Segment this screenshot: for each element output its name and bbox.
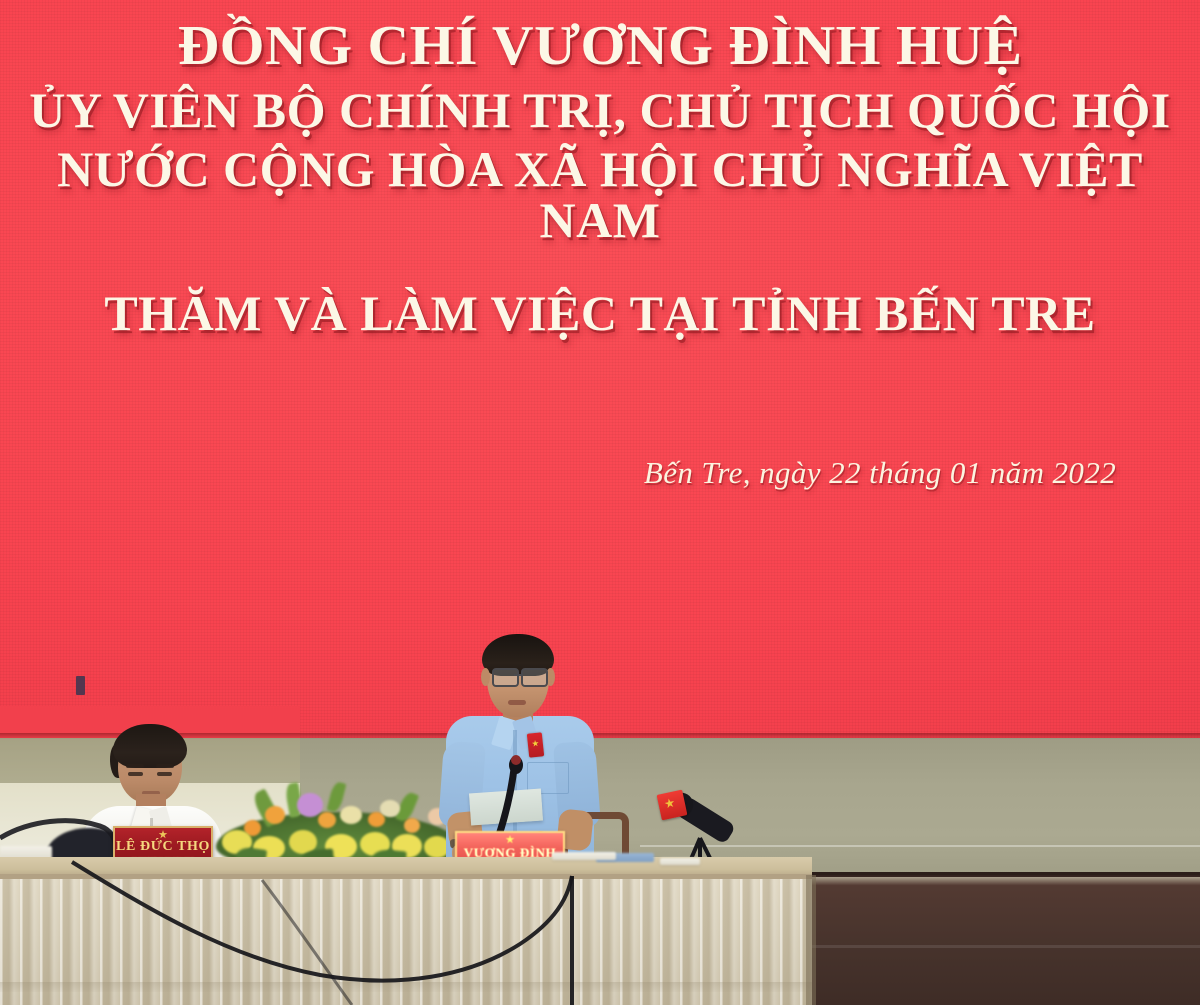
seated-official-brow-left [126,764,144,768]
speaker-ear-left [481,668,490,686]
speaker-notes-paper [469,789,543,826]
nameplate-name: LÊ ĐỨC THỌ [115,840,211,854]
led-panel-artifact [76,676,85,695]
floral-blossom-orange [318,812,336,828]
star-crest-icon [159,830,168,839]
speaker-mouth [508,700,526,705]
floral-blossom-purple [297,793,323,817]
seated-official-hair [113,724,187,768]
floral-blossom-orange [265,806,285,824]
floral-blossom-cream [340,806,362,824]
eyeglasses-icon [521,668,548,687]
headline-line-3: NƯỚC CỘNG HÒA XÃ HỘI CHỦ NGHĨA VIỆT NAM [0,144,1200,246]
headline-line-4: THĂM VÀ LÀM VIỆC TẠI TỈNH BẾN TRE [0,288,1200,339]
seated-official-eye-right [157,772,172,776]
floral-blossom-orange [404,818,420,833]
headline-line-2: ỦY VIÊN BỘ CHÍNH TRỊ, CHỦ TỊCH QUỐC HỘI [0,85,1200,136]
table-papers [660,858,700,865]
star-crest-icon [506,835,515,844]
eyeglasses-icon [492,668,519,687]
eyeglasses-bridge [514,674,522,676]
seated-official-eye-left [128,772,143,776]
press-mic-flag-icon [657,790,688,821]
table-right-shadow [806,875,816,1005]
photograph-canvas: ĐỒNG CHÍ VƯƠNG ĐÌNH HUỆ ỦY VIÊN BỘ CHÍNH… [0,0,1200,1005]
national-assembly-badge-icon [527,732,544,757]
wall-trim-line [640,845,1200,847]
backdrop-datestamp-row: Bến Tre, ngày 22 tháng 01 năm 2022 [0,455,1200,491]
backdrop-datestamp: Bến Tre, ngày 22 tháng 01 năm 2022 [644,455,1116,491]
table-papers [552,852,616,860]
headline-line-1: ĐỒNG CHÍ VƯƠNG ĐÌNH HUỆ [0,18,1200,75]
seated-official-brow-right [156,764,174,768]
floral-blossom-cream [380,800,400,817]
table-skirt-hem [0,982,812,992]
backdrop-headline: ĐỒNG CHÍ VƯƠNG ĐÌNH HUỆ ỦY VIÊN BỘ CHÍNH… [0,18,1200,339]
